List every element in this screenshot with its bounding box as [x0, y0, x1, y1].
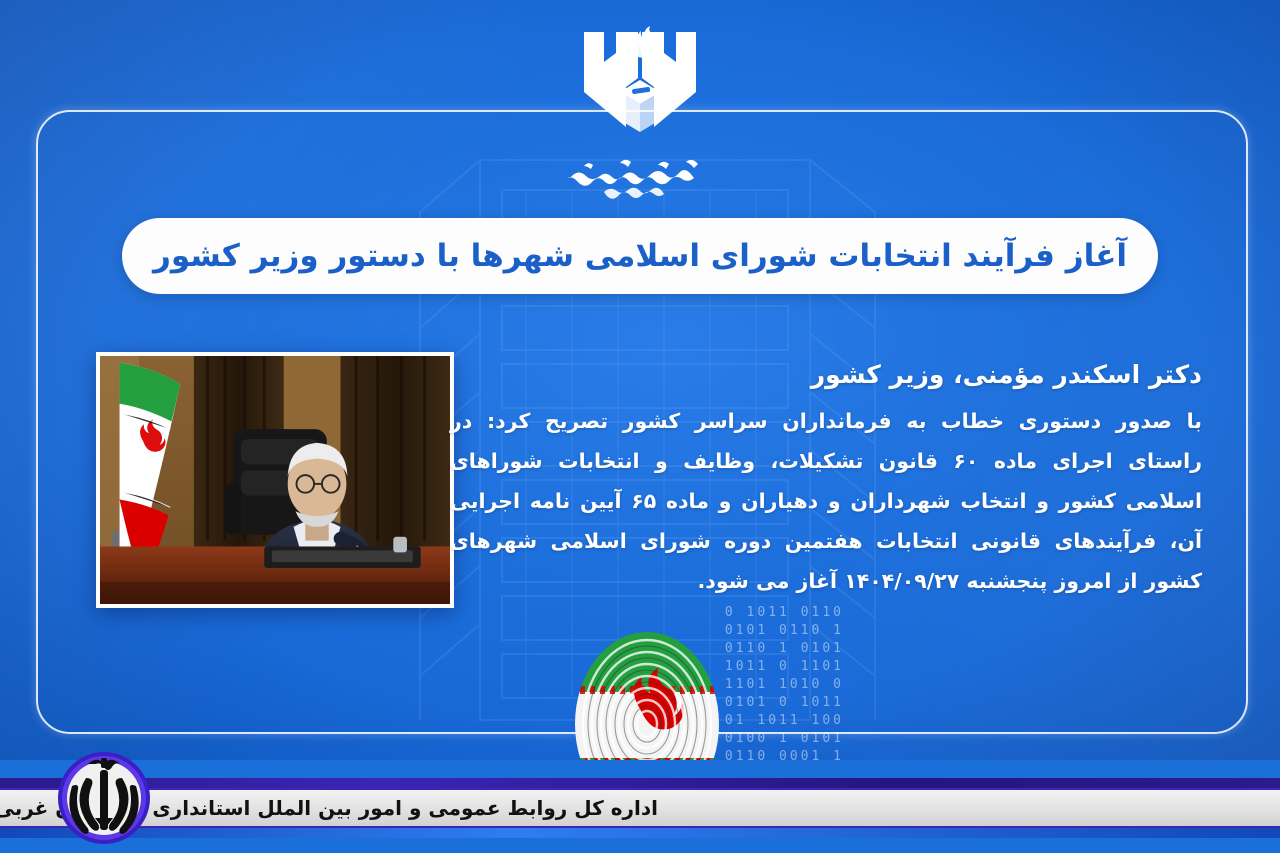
- iran-national-emblem-icon: [48, 748, 160, 848]
- binary-row: 1 0110 0101: [452, 622, 844, 640]
- ballot-box-shield-emblem-icon: [576, 26, 704, 148]
- minister-photo: [96, 352, 454, 608]
- article-text-block: دکتر اسکندر مؤمنی، وزیر کشور با صدور دست…: [450, 358, 1202, 602]
- binary-row: 1101 0 1011: [452, 658, 844, 676]
- binary-row: 0101 1 0100: [452, 730, 844, 748]
- article-lede: دکتر اسکندر مؤمنی، وزیر کشور: [450, 358, 1202, 392]
- binary-row: 0101 1 0110: [452, 640, 844, 658]
- elections-headquarters-logo: [0, 26, 1280, 216]
- article-body: با صدور دستوری خطاب به فرمانداران سراسر …: [450, 402, 1202, 602]
- binary-row: 0110 1011 0: [452, 604, 844, 622]
- binary-row: 1011 0 0101: [452, 694, 844, 712]
- infographic-canvas: آغاز فرآیند انتخابات شورای اسلامی شهرها …: [0, 0, 1280, 853]
- binary-row: 100 1011 01: [452, 712, 844, 730]
- footer-band-top: [0, 778, 1280, 788]
- headline-text: آغاز فرآیند انتخابات شورای اسلامی شهرها …: [153, 237, 1127, 276]
- footer-band-bottom: [0, 828, 1280, 838]
- footer-bar: اداره کل روابط عمومی و امور بین الملل اس…: [0, 760, 1280, 853]
- binary-row: 0 1010 1101: [452, 676, 844, 694]
- logo-wordmark: [560, 152, 720, 202]
- headline-banner: آغاز فرآیند انتخابات شورای اسلامی شهرها …: [122, 218, 1158, 294]
